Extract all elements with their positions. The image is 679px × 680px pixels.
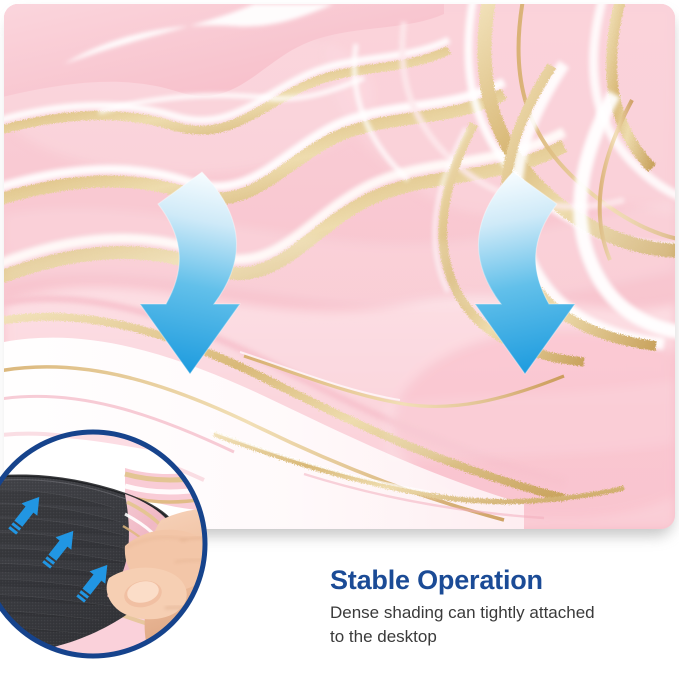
- caption-body-line-1: Dense shading can tightly attached: [330, 603, 595, 622]
- curved-arrow-down-left: [140, 168, 260, 378]
- caption-body-line-2: to the desktop: [330, 627, 437, 646]
- caption-block: Stable Operation Dense shading can tight…: [330, 565, 660, 649]
- caption-body: Dense shading can tightly attached to th…: [330, 601, 660, 649]
- product-feature-image: Stable Operation Dense shading can tight…: [0, 0, 679, 680]
- caption-title: Stable Operation: [330, 565, 660, 595]
- inset-illustration: [0, 428, 247, 660]
- inset-scene: [0, 428, 247, 660]
- antislip-base-inset: [0, 428, 247, 660]
- curved-arrow-down-right: [455, 168, 575, 378]
